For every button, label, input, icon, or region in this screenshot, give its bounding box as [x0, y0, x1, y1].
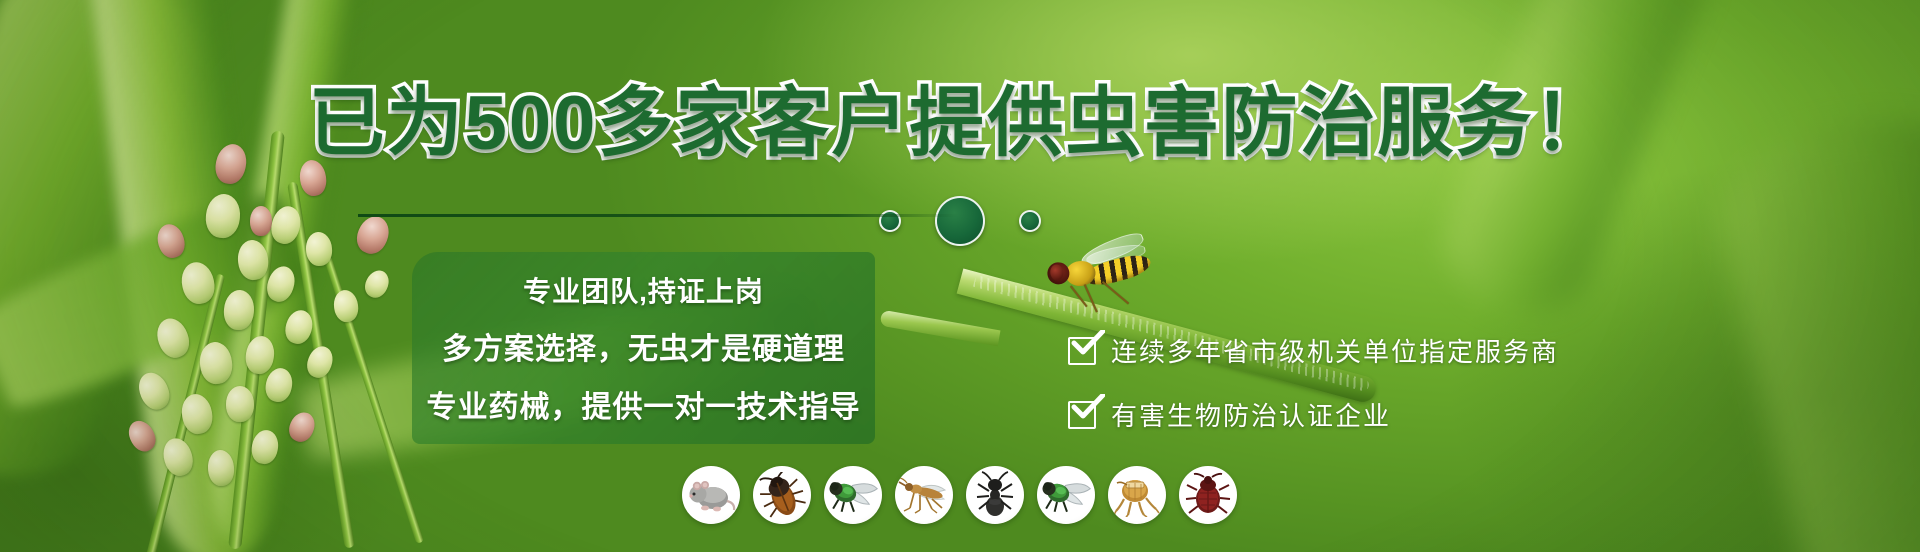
dot-large-center-icon [935, 196, 985, 246]
feature-panel-lines: 专业团队,持证上岗 多方案选择，无虫才是硬道理 专业药械，提供一对一技术指导 [412, 252, 875, 444]
feature-panel: 专业团队,持证上岗 多方案选择，无虫才是硬道理 专业药械，提供一对一技术指导 [412, 252, 875, 444]
decorative-dot-row [0, 196, 1920, 246]
checklist-item-label: 有害生物防治认证企业 [1111, 396, 1391, 433]
checklist-item-label: 连续多年省市级机关单位指定服务商 [1111, 332, 1559, 369]
blowfly-icon[interactable] [824, 466, 882, 524]
checklist-item: 连续多年省市级机关单位指定服务商 [1068, 332, 1559, 369]
checklist-item: 有害生物防治认证企业 [1068, 396, 1559, 433]
banner-headline: 已为500多家客户提供虫害防治服务！ [0, 86, 1920, 162]
bedbug-icon[interactable] [1179, 466, 1237, 524]
rat-icon[interactable] [682, 466, 740, 524]
hoverfly-leg [1102, 281, 1129, 304]
pest-icon-row [682, 466, 1237, 524]
mosquito-icon[interactable] [895, 466, 953, 524]
flea-icon[interactable] [1108, 466, 1166, 524]
check-box-icon [1068, 337, 1096, 365]
ant-icon[interactable] [966, 466, 1024, 524]
pest-control-hero-banner: 已为500多家客户提供虫害防治服务！ 专业团队,持证上岗 多方案选择，无虫才是硬… [0, 0, 1920, 552]
check-box-icon [1068, 401, 1096, 429]
housefly-icon[interactable] [1037, 466, 1095, 524]
banner-headline-text: 已为500多家客户提供虫害防治服务！ [309, 81, 1612, 166]
feature-panel-line-1: 专业团队,持证上岗 [523, 270, 764, 310]
credentials-checklist: 连续多年省市级机关单位指定服务商 有害生物防治认证企业 [1068, 332, 1559, 433]
divider-rule [358, 214, 958, 217]
cockroach-icon[interactable] [753, 466, 811, 524]
feature-panel-line-3: 专业药械，提供一对一技术指导 [427, 382, 861, 426]
dot-small-right-icon [1019, 210, 1041, 232]
feature-panel-line-2: 多方案选择，无虫才是硬道理 [442, 324, 845, 368]
